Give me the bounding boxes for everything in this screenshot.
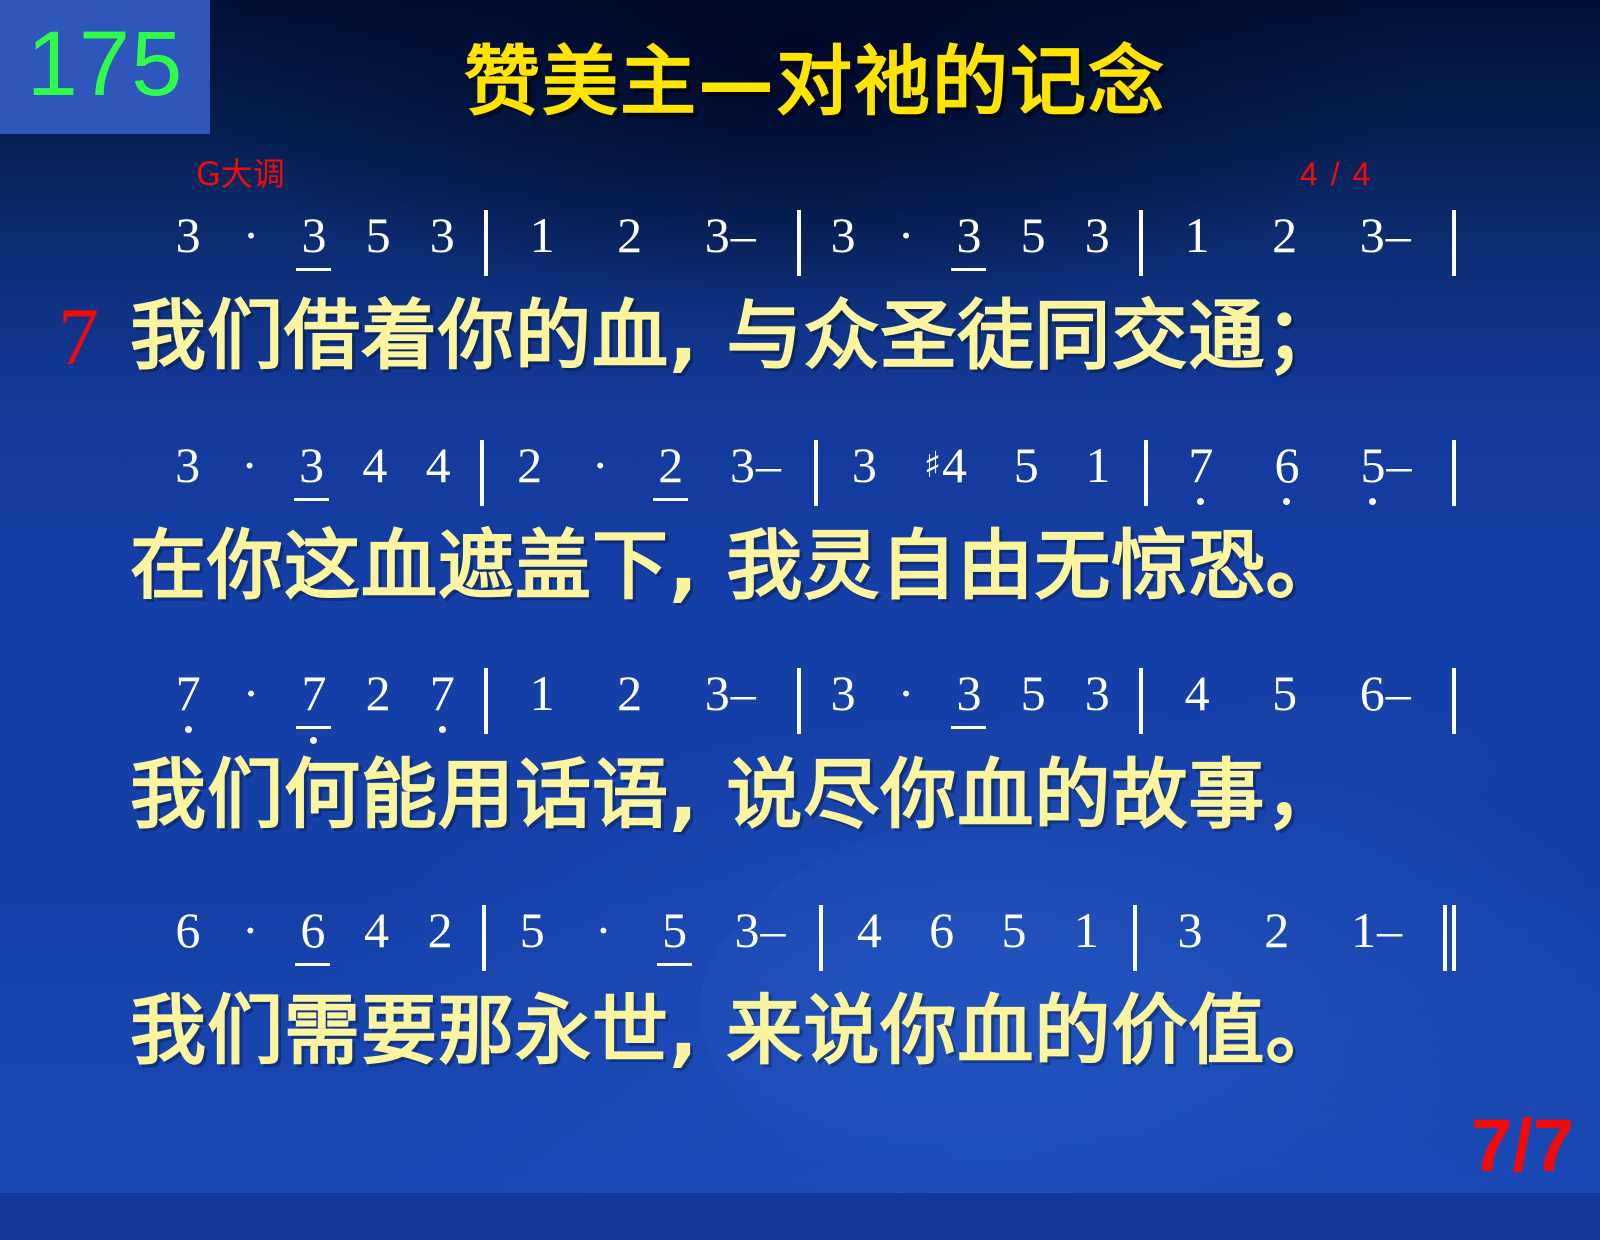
- note-low-octave: 7: [1186, 440, 1215, 490]
- barline: [1139, 210, 1143, 276]
- time-signature-label: 4 / 4: [1300, 158, 1372, 190]
- page-title: 赞美主—对祂的记念: [0, 44, 1600, 120]
- barline: [1133, 905, 1137, 971]
- note: 5: [1019, 210, 1048, 260]
- note: 3: [1083, 668, 1112, 718]
- note: 3: [829, 210, 858, 260]
- augmentation-dot: ·: [590, 905, 617, 955]
- note: 2: [1270, 210, 1299, 260]
- measure: 4 6 5 1: [827, 905, 1128, 955]
- note: 3: [174, 210, 203, 260]
- note: 1: [1084, 440, 1113, 490]
- measure: 1 2 3–: [492, 668, 793, 718]
- note: 4: [362, 905, 391, 955]
- barline: [1452, 440, 1456, 506]
- augmentation-dot: ·: [893, 668, 920, 718]
- note: 2: [1262, 905, 1291, 955]
- measure: 2 · 2 3–: [488, 440, 811, 490]
- measure: 6 · 6 4 2: [150, 905, 478, 955]
- page-indicator: 7/7: [1471, 1109, 1574, 1183]
- note: 2: [615, 210, 644, 260]
- note: 3: [1175, 905, 1204, 955]
- note: 4: [360, 440, 389, 490]
- note-low-octave: 5–: [1358, 440, 1413, 490]
- note: 6: [173, 905, 202, 955]
- measure: 3 · 3 5 3: [805, 668, 1135, 718]
- note-low-octave: 7: [428, 668, 457, 718]
- measure: 1 2 3–: [1147, 210, 1448, 260]
- note: 3: [173, 440, 202, 490]
- note: 3–: [703, 210, 758, 260]
- note: 5: [1270, 668, 1299, 718]
- note: 1: [1183, 210, 1212, 260]
- note: 5: [364, 210, 393, 260]
- lyric-line-1: 我们借着你的血, 与众圣徒同交通；: [130, 298, 1460, 374]
- note: 2: [364, 668, 393, 718]
- note: 3: [299, 210, 328, 260]
- measure: 3 · 3 5 3: [805, 210, 1135, 260]
- barline: [1452, 210, 1456, 276]
- note: 1: [1072, 905, 1101, 955]
- note: 2: [426, 905, 455, 955]
- hymn-slide: 175 赞美主—对祂的记念 G大调 4 / 4 7 3 · 3 5 3 1 2 …: [0, 0, 1600, 1193]
- measure: 3 2 1–: [1141, 905, 1439, 955]
- barline: [1139, 668, 1143, 734]
- measure: 3 · 3 4 4: [150, 440, 476, 490]
- barline: [480, 440, 484, 506]
- notation-line-4: 6 · 6 4 2 5 · 5 3– 4 6 5 1 3 2 1–: [150, 905, 1460, 979]
- sharp-icon: ♯: [924, 445, 942, 486]
- note: 1: [528, 668, 557, 718]
- barline: [797, 210, 801, 276]
- note: 5: [1012, 440, 1041, 490]
- note: 5: [1000, 905, 1029, 955]
- note: 2: [656, 440, 685, 490]
- barline: [1144, 440, 1148, 506]
- note: 3: [850, 440, 879, 490]
- augmentation-dot: ·: [587, 440, 614, 490]
- barline: [1452, 668, 1456, 734]
- barline: [484, 668, 488, 734]
- measure: 7 · 7 2 7: [150, 668, 480, 718]
- measure: 3 · 3 5 3: [150, 210, 480, 260]
- note-low-octave: 6: [1272, 440, 1301, 490]
- barline: [814, 440, 818, 506]
- measure: 1 2 3–: [492, 210, 793, 260]
- note: 3: [1083, 210, 1112, 260]
- note: 3: [829, 668, 858, 718]
- key-signature-label: G大调: [196, 158, 285, 190]
- lyric-line-3: 我们何能用话语, 说尽你血的故事，: [130, 757, 1460, 833]
- augmentation-dot: ·: [236, 440, 263, 490]
- augmentation-dot: ·: [238, 210, 265, 260]
- note-low-octave: 7: [299, 668, 328, 718]
- lyric-line-2: 在你这血遮盖下, 我灵自由无惊恐。: [130, 528, 1460, 604]
- measure: 3 ♯4 5 1: [822, 440, 1139, 490]
- note: 3: [297, 440, 326, 490]
- note: 5: [1019, 668, 1048, 718]
- note: 4: [855, 905, 884, 955]
- note: 5: [518, 905, 547, 955]
- notation-line-2: 3 · 3 4 4 2 · 2 3– 3 ♯4 5 1 7 6 5–: [150, 440, 1460, 514]
- note: 2: [515, 440, 544, 490]
- barline: [819, 905, 823, 971]
- note-low-octave: 7: [174, 668, 203, 718]
- barline: [797, 668, 801, 734]
- note: 1: [528, 210, 557, 260]
- note: 3: [428, 210, 457, 260]
- note: 3–: [1358, 210, 1413, 260]
- barline: [484, 210, 488, 276]
- note: 3–: [732, 905, 787, 955]
- note: 3–: [728, 440, 783, 490]
- note: 3–: [703, 668, 758, 718]
- note: 3: [954, 210, 983, 260]
- note: 2: [615, 668, 644, 718]
- lyric-line-4: 我们需要那永世, 来说你血的价值。: [130, 993, 1460, 1069]
- note: 3: [954, 668, 983, 718]
- note: 4: [1183, 668, 1212, 718]
- note: 4: [424, 440, 453, 490]
- final-barline: [1443, 905, 1456, 971]
- note: 6: [927, 905, 956, 955]
- note-sharp: ♯4: [922, 440, 969, 490]
- note: 1–: [1349, 905, 1404, 955]
- note: 6: [298, 905, 327, 955]
- augmentation-dot: ·: [237, 905, 264, 955]
- notation-line-3: 7 · 7 2 7 1 2 3– 3 · 3 5 3 4 5 6–: [150, 668, 1460, 742]
- augmentation-dot: ·: [238, 668, 265, 718]
- notation-line-1: 3 · 3 5 3 1 2 3– 3 · 3 5 3 1 2 3–: [150, 210, 1460, 284]
- measure: 7 6 5–: [1152, 440, 1448, 490]
- barline: [482, 905, 486, 971]
- measure: 4 5 6–: [1147, 668, 1448, 718]
- measure: 5 · 5 3–: [490, 905, 815, 955]
- note: 6–: [1358, 668, 1413, 718]
- note: 5: [660, 905, 689, 955]
- verse-number-label: 7: [58, 296, 99, 378]
- augmentation-dot: ·: [893, 210, 920, 260]
